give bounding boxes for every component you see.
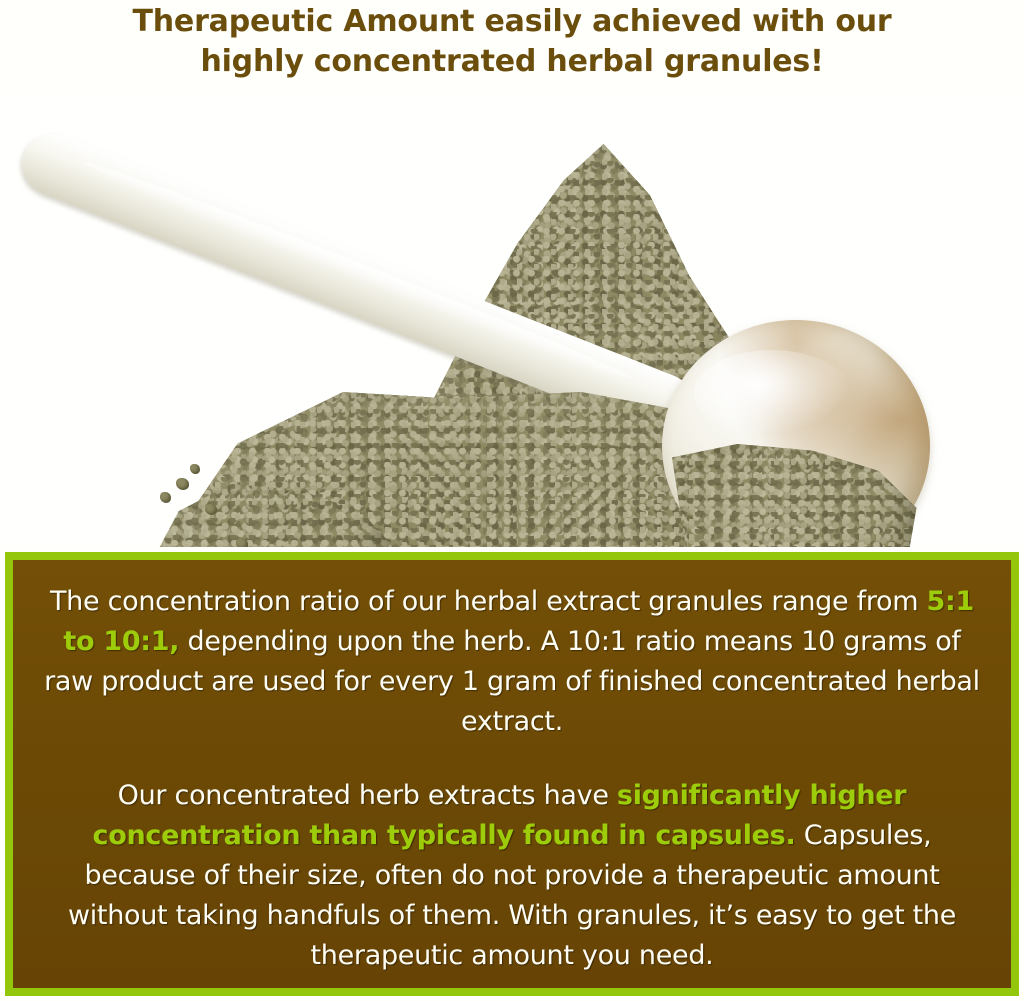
callout-p2-text-a: Our concentrated herb extracts have xyxy=(118,780,617,811)
loose-granule xyxy=(190,464,200,474)
loose-granule xyxy=(236,538,248,547)
loose-granule xyxy=(176,478,189,490)
callout-paragraph-1: The concentration ratio of our herbal ex… xyxy=(39,582,985,742)
loose-granule xyxy=(205,504,217,515)
page-title: Therapeutic Amount easily achieved with … xyxy=(0,0,1024,92)
page-title-line-2: highly concentrated herbal granules! xyxy=(0,42,1024,82)
loose-granule xyxy=(160,492,171,503)
page-title-line-1: Therapeutic Amount easily achieved with … xyxy=(0,2,1024,42)
herbal-granules-photo xyxy=(0,92,1024,547)
callout-paragraph-2: Our concentrated herb extracts have sign… xyxy=(39,776,985,976)
callout-p1-text-b: depending upon the herb. A 10:1 ratio me… xyxy=(44,626,980,737)
concentration-info-callout: The concentration ratio of our herbal ex… xyxy=(5,552,1019,996)
callout-p1-text-a: The concentration ratio of our herbal ex… xyxy=(50,586,927,617)
